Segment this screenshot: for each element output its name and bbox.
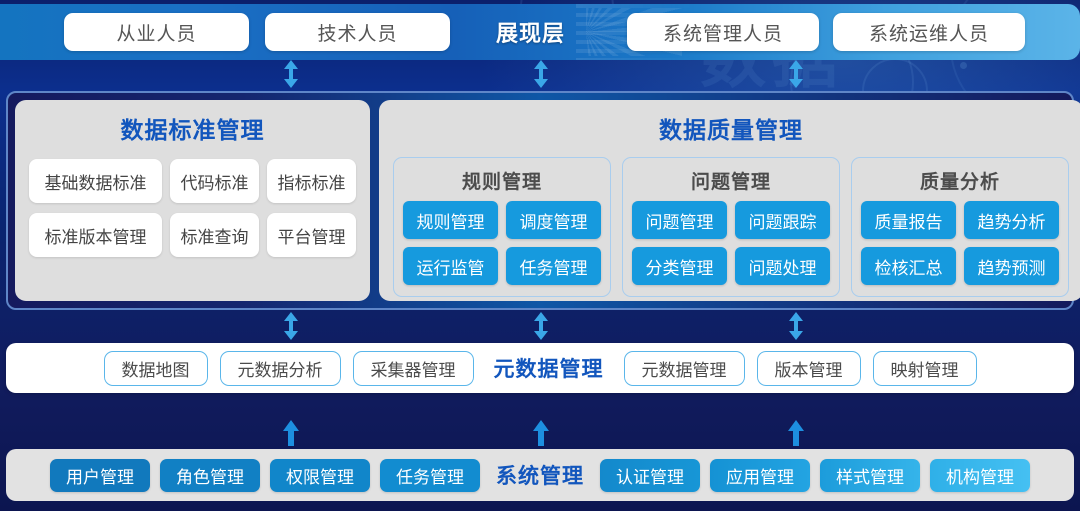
- quality-item[interactable]: 检核汇总: [861, 247, 956, 285]
- quality-item-label: 问题管理: [646, 208, 714, 233]
- role-chip-practitioner[interactable]: 从业人员: [64, 13, 249, 51]
- metadata-item-label: 数据地图: [122, 356, 190, 381]
- quality-item[interactable]: 规则管理: [403, 201, 498, 239]
- issue-management-subpanel: 问题管理 问题管理 问题跟踪 分类管理 问题处理: [622, 157, 840, 297]
- quality-item-label: 分类管理: [646, 254, 714, 279]
- double-head-vertical-arrow-icon: [787, 312, 805, 340]
- quality-item-label: 问题跟踪: [749, 208, 817, 233]
- subpanel-grid: 质量报告 趋势分析 检核汇总 趋势预测: [861, 201, 1059, 285]
- system-layer-title: 系统管理: [490, 460, 590, 490]
- metadata-item-version[interactable]: 版本管理: [757, 351, 861, 386]
- standard-item[interactable]: 基础数据标准: [29, 159, 162, 203]
- double-head-vertical-arrow-icon: [532, 312, 550, 340]
- architecture-diagram: 数据 从业人员 技术人员 展现层 系统管理人员 系统运维人员: [0, 0, 1080, 511]
- double-head-vertical-arrow-icon: [282, 312, 300, 340]
- role-label: 从业人员: [116, 19, 196, 46]
- system-item-role[interactable]: 角色管理: [160, 459, 260, 492]
- standard-item-label: 基础数据标准: [45, 169, 147, 194]
- subpanel-title: 质量分析: [920, 167, 1000, 194]
- subpanel-title: 规则管理: [462, 167, 542, 194]
- system-item-auth[interactable]: 认证管理: [600, 459, 700, 492]
- quality-item[interactable]: 调度管理: [506, 201, 601, 239]
- metadata-layer-title: 元数据管理: [486, 353, 612, 383]
- system-item-label: 机构管理: [946, 463, 1014, 488]
- role-label: 技术人员: [317, 19, 397, 46]
- quality-item[interactable]: 问题管理: [632, 201, 727, 239]
- metadata-item-analysis[interactable]: 元数据分析: [220, 351, 341, 386]
- metadata-item-collector[interactable]: 采集器管理: [353, 351, 474, 386]
- metadata-item-label: 元数据管理: [642, 356, 727, 381]
- data-standard-title: 数据标准管理: [121, 111, 265, 145]
- standard-item-label: 平台管理: [278, 223, 346, 248]
- metadata-item-label: 映射管理: [891, 356, 959, 381]
- role-chip-sysadmin[interactable]: 系统管理人员: [627, 13, 819, 51]
- metadata-item-management[interactable]: 元数据管理: [624, 351, 745, 386]
- quality-item[interactable]: 问题处理: [735, 247, 830, 285]
- system-item-task[interactable]: 任务管理: [380, 459, 480, 492]
- role-chip-sysops[interactable]: 系统运维人员: [833, 13, 1025, 51]
- quality-item[interactable]: 任务管理: [506, 247, 601, 285]
- standard-item[interactable]: 指标标准: [267, 159, 356, 203]
- subpanel-grid: 问题管理 问题跟踪 分类管理 问题处理: [632, 201, 830, 285]
- quality-item[interactable]: 趋势预测: [964, 247, 1059, 285]
- connector-row-bottom: [0, 420, 1080, 450]
- metadata-item-label: 采集器管理: [371, 356, 456, 381]
- quality-item-label: 规则管理: [417, 208, 485, 233]
- quality-item-label: 运行监管: [417, 254, 485, 279]
- standard-item[interactable]: 标准查询: [170, 213, 259, 257]
- role-label: 系统运维人员: [869, 19, 989, 46]
- data-standard-panel: 数据标准管理 基础数据标准 代码标准 指标标准 标准版本管理 标准查询 平台管理: [15, 100, 370, 301]
- double-head-vertical-arrow-icon: [532, 60, 550, 88]
- system-item-label: 任务管理: [396, 463, 464, 488]
- quality-item-label: 趋势预测: [978, 254, 1046, 279]
- data-standard-grid: 基础数据标准 代码标准 指标标准 标准版本管理 标准查询 平台管理: [29, 159, 356, 257]
- metadata-item-data-map[interactable]: 数据地图: [104, 351, 208, 386]
- system-item-label: 用户管理: [66, 463, 134, 488]
- connector-row-middle: [0, 312, 1080, 342]
- system-item-application[interactable]: 应用管理: [710, 459, 810, 492]
- quality-item[interactable]: 趋势分析: [964, 201, 1059, 239]
- system-item-label: 认证管理: [616, 463, 684, 488]
- system-item-permission[interactable]: 权限管理: [270, 459, 370, 492]
- system-item-label: 权限管理: [286, 463, 354, 488]
- quality-subpanel-row: 规则管理 规则管理 调度管理 运行监管 任务管理 问题管理 问题管理 问题跟踪 …: [393, 157, 1069, 297]
- subpanel-grid: 规则管理 调度管理 运行监管 任务管理: [403, 201, 601, 285]
- quality-item-label: 调度管理: [520, 208, 588, 233]
- connector-row-top: [0, 60, 1080, 90]
- core-layer-container: 数据标准管理 基础数据标准 代码标准 指标标准 标准版本管理 标准查询 平台管理…: [6, 91, 1074, 310]
- standard-item-label: 代码标准: [181, 169, 249, 194]
- quality-item[interactable]: 运行监管: [403, 247, 498, 285]
- double-head-vertical-arrow-icon: [282, 60, 300, 88]
- role-label: 系统管理人员: [663, 19, 783, 46]
- standard-item-label: 标准查询: [181, 223, 249, 248]
- quality-item[interactable]: 问题跟踪: [735, 201, 830, 239]
- metadata-item-label: 版本管理: [775, 356, 843, 381]
- quality-item-label: 趋势分析: [978, 208, 1046, 233]
- data-quality-title: 数据质量管理: [659, 111, 803, 145]
- rule-management-subpanel: 规则管理 规则管理 调度管理 运行监管 任务管理: [393, 157, 611, 297]
- role-chip-technician[interactable]: 技术人员: [265, 13, 450, 51]
- up-arrow-icon: [532, 420, 550, 446]
- up-arrow-icon: [787, 420, 805, 446]
- quality-analysis-subpanel: 质量分析 质量报告 趋势分析 检核汇总 趋势预测: [851, 157, 1069, 297]
- standard-item-label: 标准版本管理: [45, 223, 147, 248]
- quality-item-label: 检核汇总: [875, 254, 943, 279]
- presentation-layer-title: 展现层: [496, 16, 565, 48]
- double-head-vertical-arrow-icon: [787, 60, 805, 88]
- quality-item-label: 任务管理: [520, 254, 588, 279]
- metadata-item-label: 元数据分析: [238, 356, 323, 381]
- metadata-layer-bar: 数据地图 元数据分析 采集器管理 元数据管理 元数据管理 版本管理 映射管理: [6, 343, 1074, 393]
- system-item-style[interactable]: 样式管理: [820, 459, 920, 492]
- system-item-label: 应用管理: [726, 463, 794, 488]
- standard-item[interactable]: 代码标准: [170, 159, 259, 203]
- quality-item-label: 质量报告: [875, 208, 943, 233]
- presentation-layer-bar: 从业人员 技术人员 展现层 系统管理人员 系统运维人员: [0, 4, 1080, 60]
- system-item-label: 样式管理: [836, 463, 904, 488]
- system-item-user[interactable]: 用户管理: [50, 459, 150, 492]
- data-quality-panel: 数据质量管理 规则管理 规则管理 调度管理 运行监管 任务管理 问题管理 问题管…: [379, 100, 1080, 301]
- quality-item-label: 问题处理: [749, 254, 817, 279]
- quality-item[interactable]: 质量报告: [861, 201, 956, 239]
- metadata-item-mapping[interactable]: 映射管理: [873, 351, 977, 386]
- standard-item[interactable]: 平台管理: [267, 213, 356, 257]
- up-arrow-icon: [282, 420, 300, 446]
- standard-item[interactable]: 标准版本管理: [29, 213, 162, 257]
- subpanel-title: 问题管理: [691, 167, 771, 194]
- system-item-label: 角色管理: [176, 463, 244, 488]
- standard-item-label: 指标标准: [278, 169, 346, 194]
- system-layer-bar: 用户管理 角色管理 权限管理 任务管理 系统管理 认证管理 应用管理 样式管理 …: [6, 449, 1074, 501]
- quality-item[interactable]: 分类管理: [632, 247, 727, 285]
- system-item-organization[interactable]: 机构管理: [930, 459, 1030, 492]
